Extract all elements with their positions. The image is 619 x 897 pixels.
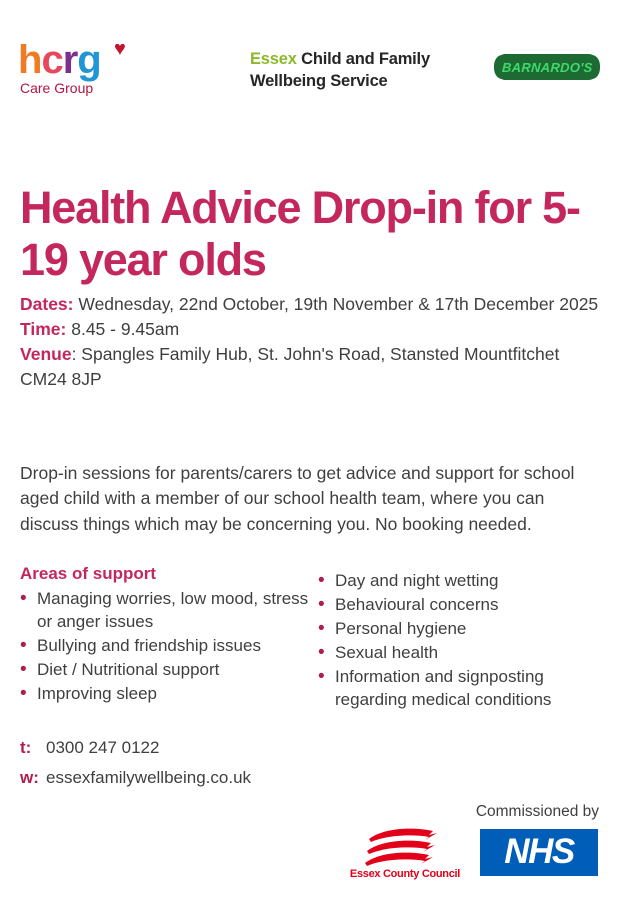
page-header: hcrg ♥ Care Group Essex Child and Family…: [0, 0, 619, 118]
detail-venue-value: : Spangles Family Hub, St. John's Road, …: [20, 344, 559, 389]
page-title: Health Advice Drop-in for 5-19 year olds: [20, 182, 590, 286]
service-name: Essex Child and Family Wellbeing Service: [250, 48, 430, 92]
list-item: Improving sleep: [20, 682, 318, 705]
support-list-left: Managing worries, low mood, stress or an…: [20, 587, 318, 705]
hcrg-tagline: Care Group: [20, 80, 93, 96]
list-item: Information and signposting regarding me…: [318, 665, 600, 711]
contact-web-row: w:essexfamilywellbeing.co.uk: [20, 763, 251, 793]
hcrg-letter-r: r: [63, 38, 78, 82]
seax-swords-icon: [363, 828, 449, 868]
service-name-line1: Child and Family: [297, 50, 430, 68]
essex-county-council-label: Essex County Council: [345, 868, 465, 880]
areas-of-support-section: Areas of support Managing worries, low m…: [20, 563, 600, 712]
detail-time-value: 8.45 - 9.45am: [66, 319, 179, 339]
contact-phone-row: t:0300 247 0122: [20, 733, 251, 763]
hcrg-care-group-logo: hcrg ♥ Care Group: [18, 40, 148, 102]
support-list-right: Day and night wetting Behavioural concer…: [318, 563, 600, 711]
detail-venue: Venue: Spangles Family Hub, St. John's R…: [20, 342, 600, 392]
hcrg-letter-g: g: [77, 38, 100, 82]
detail-dates-value: Wednesday, 22nd October, 19th November &…: [74, 294, 599, 314]
list-item: Managing worries, low mood, stress or an…: [20, 587, 318, 633]
commissioned-by-label: Commissioned by: [476, 803, 599, 821]
contact-web-value[interactable]: essexfamilywellbeing.co.uk: [46, 768, 251, 787]
list-item: Bullying and friendship issues: [20, 634, 318, 657]
heart-icon: ♥: [114, 42, 129, 56]
intro-paragraph: Drop-in sessions for parents/carers to g…: [20, 461, 598, 538]
detail-dates-label: Dates:: [20, 294, 74, 314]
hcrg-letter-c: c: [41, 38, 62, 82]
list-item: Behavioural concerns: [318, 593, 600, 616]
contact-phone-label: t:: [20, 733, 46, 763]
hcrg-letter-h: h: [18, 38, 41, 82]
service-name-line2: Wellbeing Service: [250, 72, 388, 90]
detail-dates: Dates: Wednesday, 22nd October, 19th Nov…: [20, 292, 600, 317]
support-column-left: Areas of support Managing worries, low m…: [20, 563, 318, 712]
nhs-logo: NHS: [480, 829, 598, 876]
barnardos-logo-text: BARNARDO'S: [501, 60, 592, 75]
barnardos-logo: BARNARDO'S: [496, 54, 598, 80]
contact-block: t:0300 247 0122 w:essexfamilywellbeing.c…: [20, 733, 251, 793]
list-item: Diet / Nutritional support: [20, 658, 318, 681]
nhs-logo-text: NHS: [504, 834, 573, 869]
detail-venue-label: Venue: [20, 344, 72, 364]
detail-time-label: Time:: [20, 319, 66, 339]
list-item: Day and night wetting: [318, 569, 600, 592]
list-item: Sexual health: [318, 641, 600, 664]
contact-web-label: w:: [20, 763, 46, 793]
detail-time: Time: 8.45 - 9.45am: [20, 317, 600, 342]
essex-county-council-logo: Essex County Council: [345, 828, 465, 886]
list-item: Personal hygiene: [318, 617, 600, 640]
hcrg-wordmark: hcrg: [18, 40, 101, 80]
contact-phone-value[interactable]: 0300 247 0122: [46, 738, 159, 757]
service-name-highlight: Essex: [250, 50, 297, 68]
support-column-right: Day and night wetting Behavioural concer…: [318, 563, 600, 712]
event-details: Dates: Wednesday, 22nd October, 19th Nov…: [20, 292, 600, 392]
areas-of-support-heading: Areas of support: [20, 563, 318, 585]
